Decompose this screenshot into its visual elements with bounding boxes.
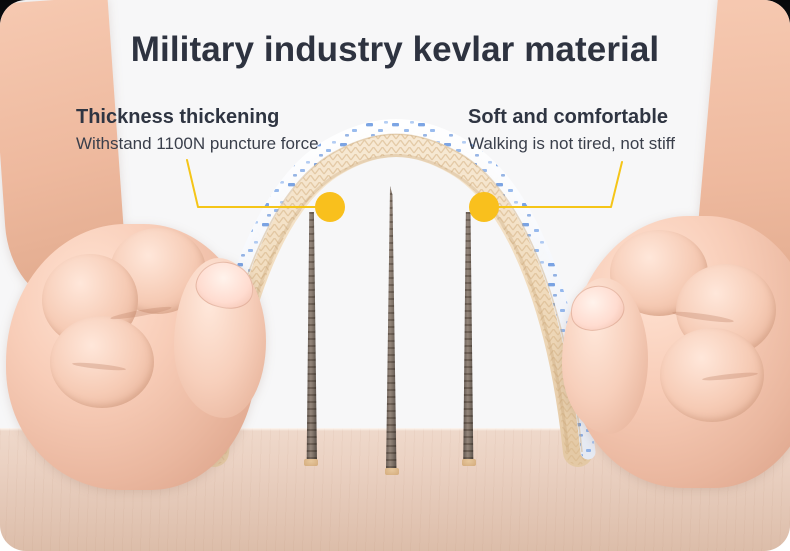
page-title: Military industry kevlar material xyxy=(0,30,790,70)
left-knuckle-3 xyxy=(50,316,154,408)
callout-comfort-subtitle: Walking is not tired, not stiff xyxy=(468,134,675,154)
product-image-page: Military industry kevlar material Thickn… xyxy=(0,0,790,551)
left-hand xyxy=(14,150,282,490)
callout-thickness-subtitle: Withstand 1100N puncture force xyxy=(76,134,319,154)
callout-comfort: Soft and comfortable Walking is not tire… xyxy=(468,106,675,154)
product-photo-scene xyxy=(0,0,790,551)
right-hand xyxy=(556,178,790,496)
callout-comfort-title: Soft and comfortable xyxy=(468,106,675,130)
callout-thickness: Thickness thickening Withstand 1100N pun… xyxy=(76,106,319,154)
product-card: Military industry kevlar material Thickn… xyxy=(0,0,790,551)
callout-thickness-title: Thickness thickening xyxy=(76,106,319,130)
